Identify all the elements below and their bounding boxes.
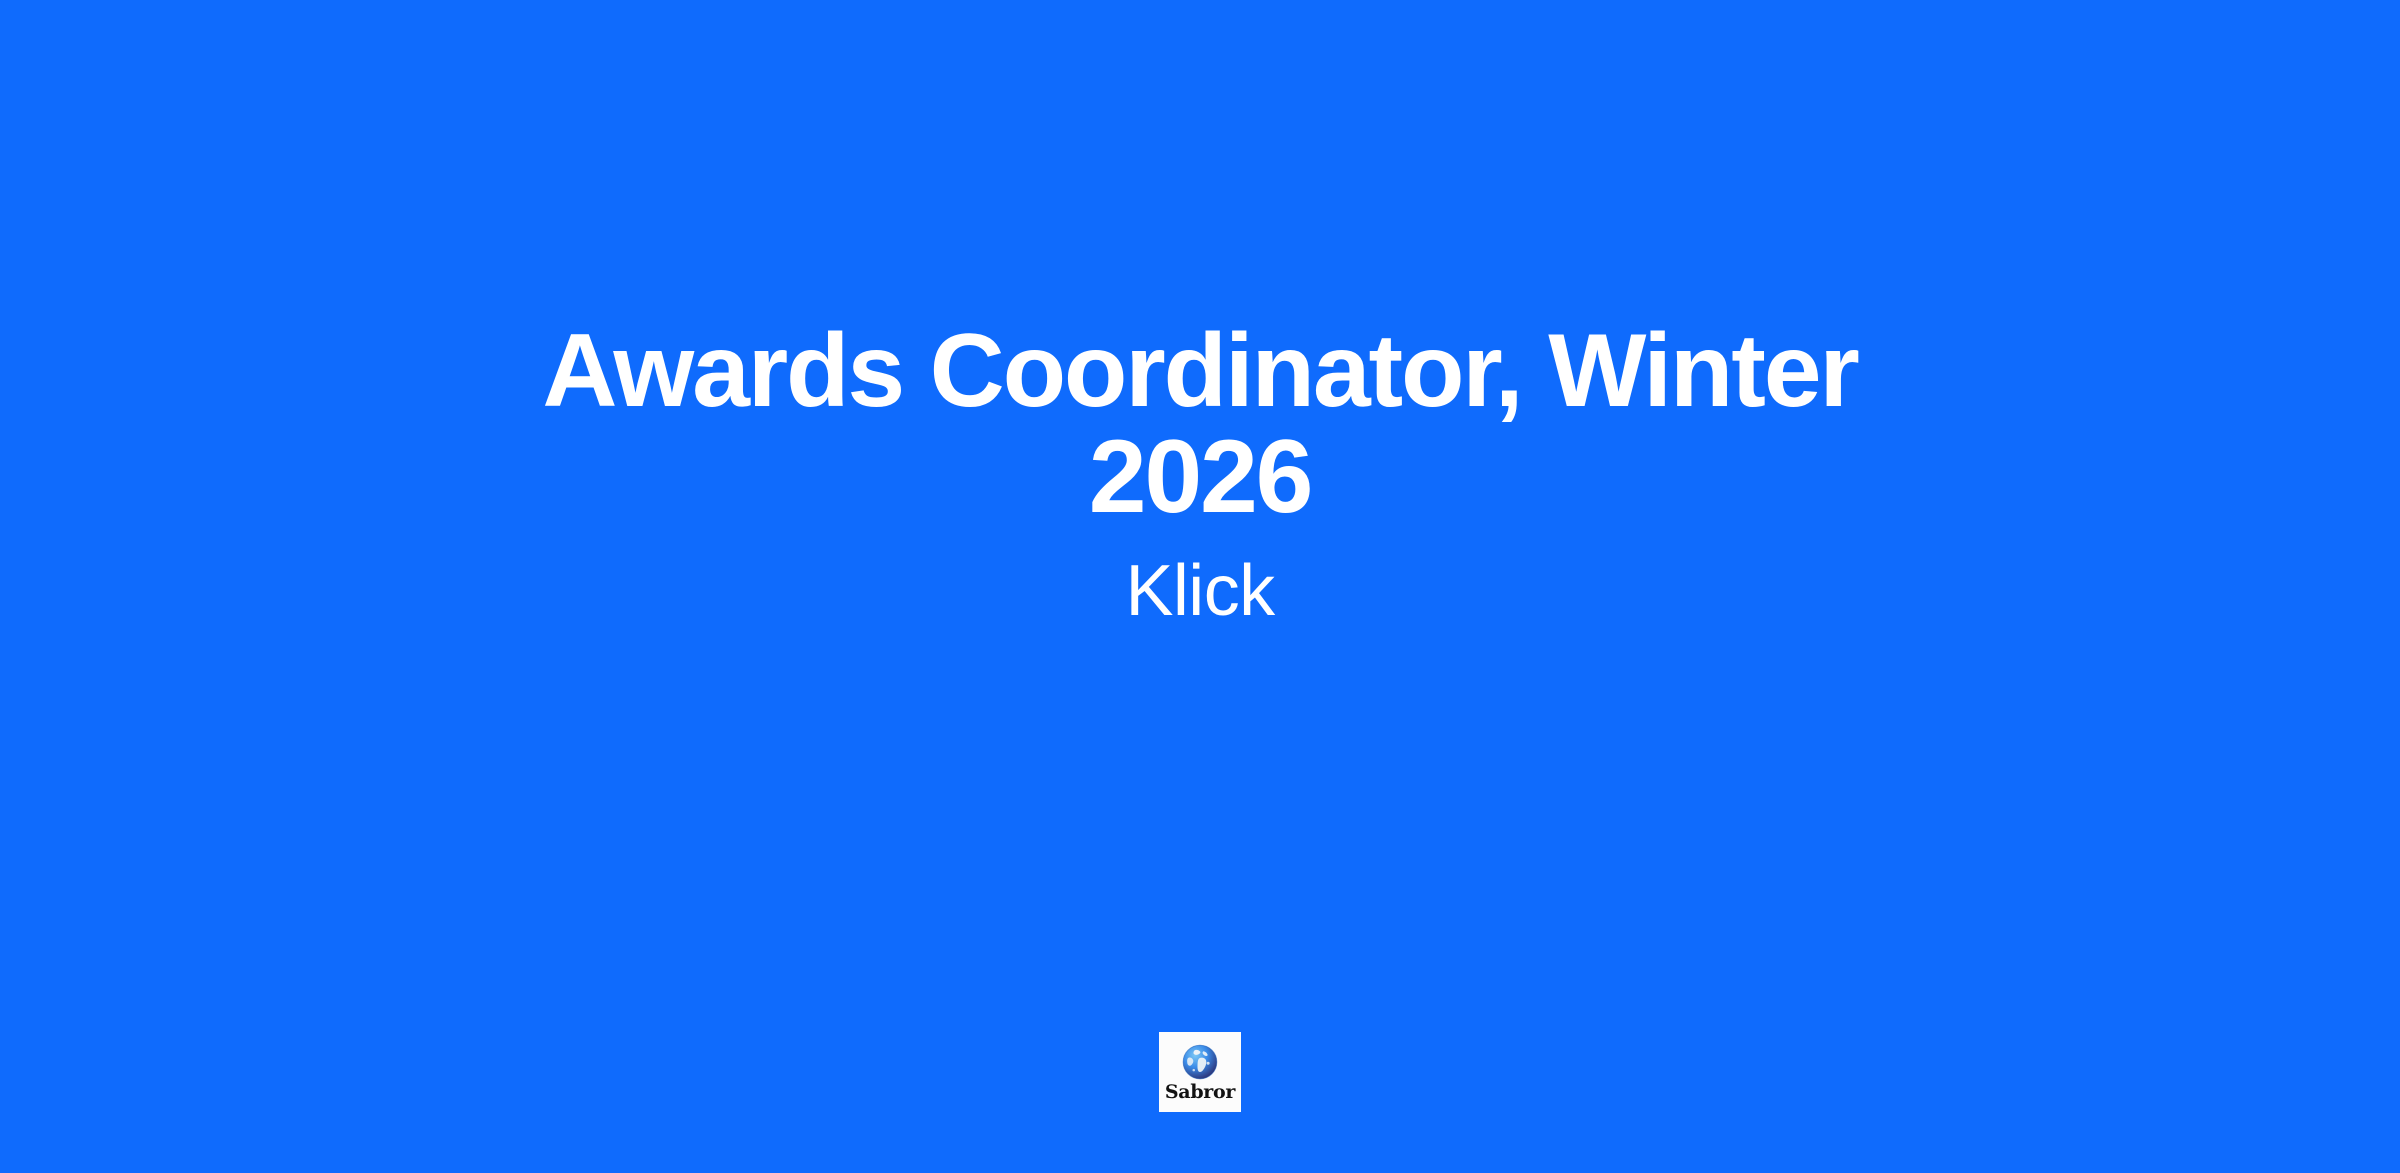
brand-wordmark: Sabror xyxy=(1165,1083,1235,1102)
brand-logo: Sabror xyxy=(1159,1032,1241,1112)
page-subtitle: Klick xyxy=(1125,552,1274,631)
globe-icon xyxy=(1180,1042,1220,1082)
cover-card: Awards Coordinator, Winter 2026 Klick xyxy=(0,0,2400,1173)
headline-block: Awards Coordinator, Winter 2026 Klick xyxy=(0,318,2400,631)
page-title: Awards Coordinator, Winter 2026 xyxy=(420,318,1980,530)
